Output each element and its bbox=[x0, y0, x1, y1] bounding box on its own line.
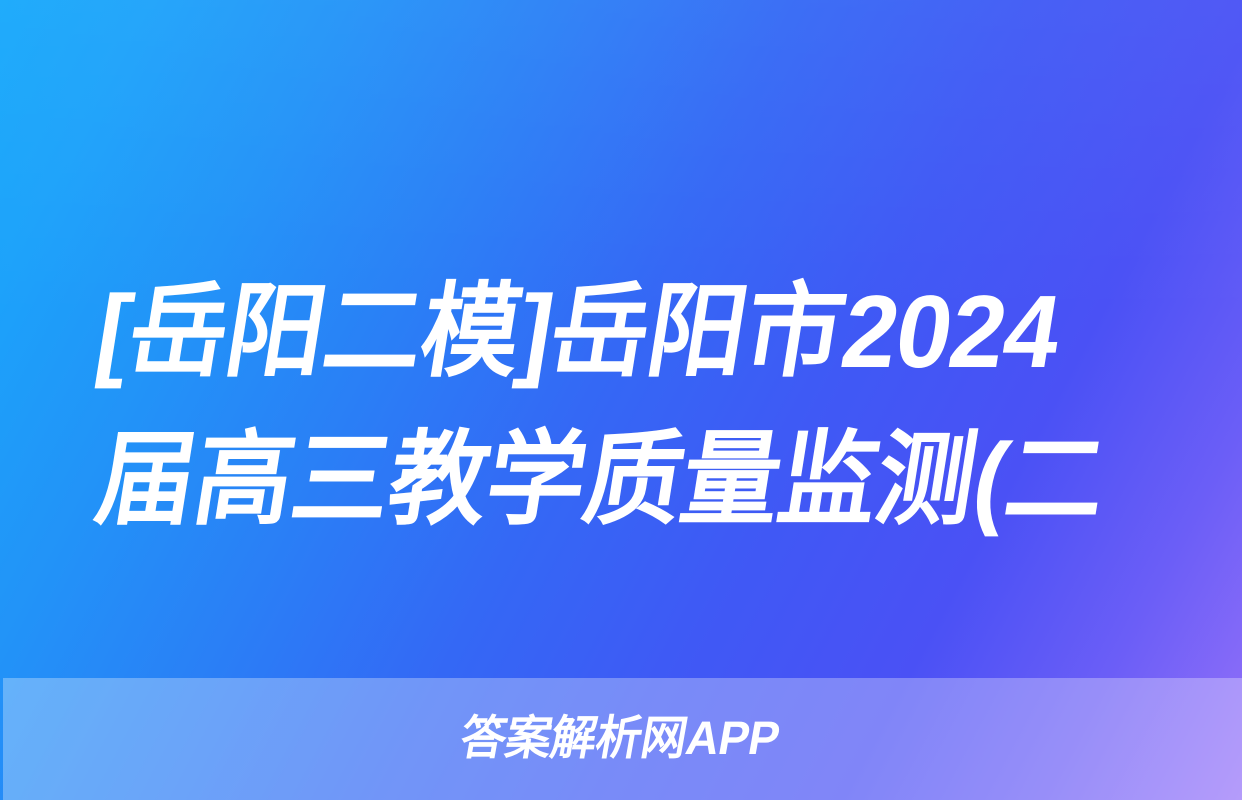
exam-paper-cover-banner: [岳阳二模]岳阳市2024 届高三教学质量监测(二 答案解析网APP bbox=[0, 0, 1242, 800]
brand-watermark: 答案解析网APP bbox=[456, 699, 786, 768]
page-title: [岳阳二模]岳阳市2024 届高三教学质量监测(二 bbox=[98, 258, 1198, 554]
page-title-line-2: 届高三教学质量监测(二 bbox=[86, 406, 1160, 554]
footer-watermark-container: 答案解析网APP bbox=[0, 700, 1242, 766]
page-title-line-1: [岳阳二模]岳阳市2024 bbox=[86, 258, 1160, 406]
